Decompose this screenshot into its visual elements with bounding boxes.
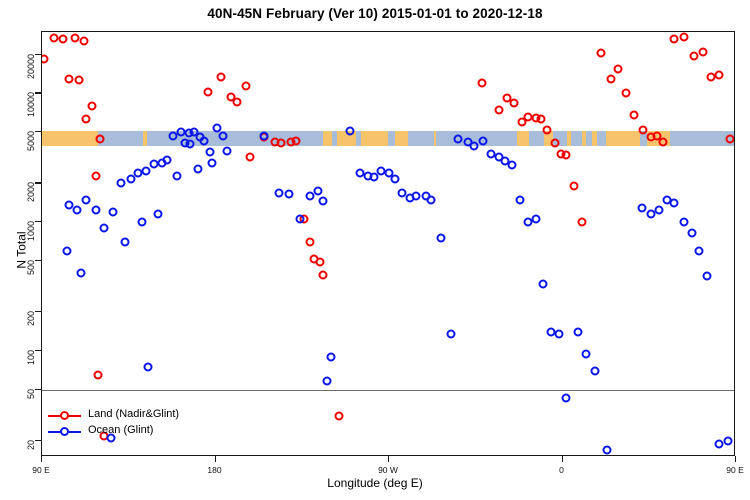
data-point — [369, 172, 378, 181]
data-point — [724, 436, 733, 445]
data-point — [602, 446, 611, 455]
data-point — [437, 233, 446, 242]
data-point — [606, 74, 615, 83]
y-tick-label: 50 — [26, 389, 36, 420]
chart-title: 40N-45N February (Ver 10) 2015-01-01 to … — [0, 6, 750, 21]
data-point — [242, 81, 251, 90]
data-point — [334, 412, 343, 421]
legend-label: Ocean (Glint) — [88, 424, 153, 436]
data-point — [91, 205, 100, 214]
data-point — [88, 101, 97, 110]
chart-root: 40N-45N February (Ver 10) 2015-01-01 to … — [0, 0, 750, 500]
data-point — [477, 79, 486, 88]
data-point — [319, 270, 328, 279]
data-point — [597, 49, 606, 58]
data-point — [319, 197, 328, 206]
data-point — [63, 246, 72, 255]
data-point — [494, 105, 503, 114]
ocean-strip-segment — [356, 131, 362, 146]
data-point — [217, 72, 226, 81]
data-point — [346, 127, 355, 136]
data-point — [74, 75, 83, 84]
data-point — [93, 371, 102, 380]
data-point — [144, 363, 153, 372]
x-tick-mark — [388, 456, 389, 462]
data-point — [629, 110, 638, 119]
data-point — [537, 115, 546, 124]
data-point — [562, 394, 571, 403]
ocean-strip-segment — [529, 131, 544, 146]
data-point — [70, 34, 79, 43]
ocean-strip-segment — [571, 131, 582, 146]
data-point — [142, 166, 151, 175]
data-point — [577, 218, 586, 227]
y-tick-label: 2000 — [26, 182, 36, 213]
x-tick-label: 90 E — [726, 465, 744, 475]
data-point — [315, 258, 324, 267]
data-point — [327, 352, 336, 361]
data-point — [508, 160, 517, 169]
x-tick-mark — [562, 456, 563, 462]
data-point — [543, 125, 552, 134]
data-point — [637, 203, 646, 212]
data-point — [72, 205, 81, 214]
data-point — [516, 195, 525, 204]
data-point — [573, 328, 582, 337]
data-point — [120, 238, 129, 247]
x-axis-label: Longitude (deg E) — [0, 476, 750, 490]
data-point — [679, 33, 688, 42]
data-point — [469, 142, 478, 151]
data-point — [695, 246, 704, 255]
data-point — [109, 207, 118, 216]
legend-marker-icon — [60, 411, 69, 420]
data-point — [699, 47, 708, 56]
data-point — [670, 34, 679, 43]
data-point — [562, 151, 571, 160]
y-tick-label: 100 — [26, 350, 36, 381]
y-tick-label: 5000 — [26, 131, 36, 162]
data-point — [207, 158, 216, 167]
data-point — [223, 146, 232, 155]
data-point — [714, 70, 723, 79]
data-point — [275, 188, 284, 197]
reference-line — [42, 390, 734, 391]
data-point — [550, 139, 559, 148]
data-point — [622, 89, 631, 98]
data-point — [99, 224, 108, 233]
data-point — [172, 171, 181, 180]
data-point — [163, 155, 172, 164]
x-tick-label: 90 E — [32, 465, 50, 475]
legend-marker-icon — [60, 427, 69, 436]
y-tick-label: 20000 — [26, 54, 36, 85]
ocean-strip-segment — [597, 131, 605, 146]
data-point — [59, 34, 68, 43]
data-point — [64, 74, 73, 83]
data-point — [390, 175, 399, 184]
data-point — [194, 164, 203, 173]
data-point — [687, 229, 696, 238]
data-point — [199, 136, 208, 145]
data-point — [427, 195, 436, 204]
x-tick-label: 90 W — [378, 465, 398, 475]
data-point — [581, 349, 590, 358]
data-point — [296, 215, 305, 224]
data-point — [313, 186, 322, 195]
x-tick-mark — [735, 456, 736, 462]
y-tick-label: 1000 — [26, 221, 36, 252]
ocean-strip-segment — [388, 131, 395, 146]
data-point — [49, 33, 58, 42]
data-point — [703, 272, 712, 281]
data-point — [531, 215, 540, 224]
x-tick-label: 180 — [207, 465, 221, 475]
y-tick-label: 10000 — [26, 92, 36, 123]
data-point — [305, 238, 314, 247]
data-point — [539, 280, 548, 289]
data-point — [614, 64, 623, 73]
x-tick-mark — [41, 456, 42, 462]
x-tick-mark — [215, 456, 216, 462]
data-point — [570, 182, 579, 191]
data-point — [554, 330, 563, 339]
data-point — [670, 199, 679, 208]
y-tick-label: 200 — [26, 311, 36, 342]
data-point — [246, 153, 255, 162]
plot-area — [41, 31, 735, 456]
data-point — [689, 52, 698, 61]
data-point — [76, 269, 85, 278]
data-point — [138, 218, 147, 227]
data-point — [479, 136, 488, 145]
data-point — [591, 366, 600, 375]
data-point — [153, 210, 162, 219]
data-point — [82, 115, 91, 124]
data-point — [714, 439, 723, 448]
data-point — [126, 175, 135, 184]
data-point — [323, 377, 332, 386]
data-point — [186, 139, 195, 148]
data-point — [41, 55, 48, 64]
data-point — [205, 148, 214, 157]
data-point — [679, 218, 688, 227]
data-point — [277, 139, 286, 148]
data-point — [95, 135, 104, 144]
data-point — [80, 37, 89, 46]
data-point — [654, 205, 663, 214]
data-point — [232, 97, 241, 106]
data-point — [219, 131, 228, 140]
x-tick-label: 0 — [559, 465, 564, 475]
ocean-strip-segment — [408, 131, 434, 146]
data-point — [91, 171, 100, 180]
data-point — [658, 137, 667, 146]
data-point — [284, 190, 293, 199]
data-point — [117, 179, 126, 188]
data-point — [292, 136, 301, 145]
ocean-strip-segment — [332, 131, 337, 146]
data-point — [510, 98, 519, 107]
legend-label: Land (Nadir&Glint) — [88, 408, 179, 420]
data-point — [454, 135, 463, 144]
y-axis-label-container: N Total — [4, 0, 22, 500]
ocean-strip-segment — [586, 131, 592, 146]
data-point — [446, 330, 455, 339]
data-point — [411, 191, 420, 200]
data-point — [726, 135, 735, 144]
y-tick-label: 500 — [26, 260, 36, 291]
data-point — [203, 87, 212, 96]
data-point — [259, 131, 268, 140]
data-point — [82, 195, 91, 204]
